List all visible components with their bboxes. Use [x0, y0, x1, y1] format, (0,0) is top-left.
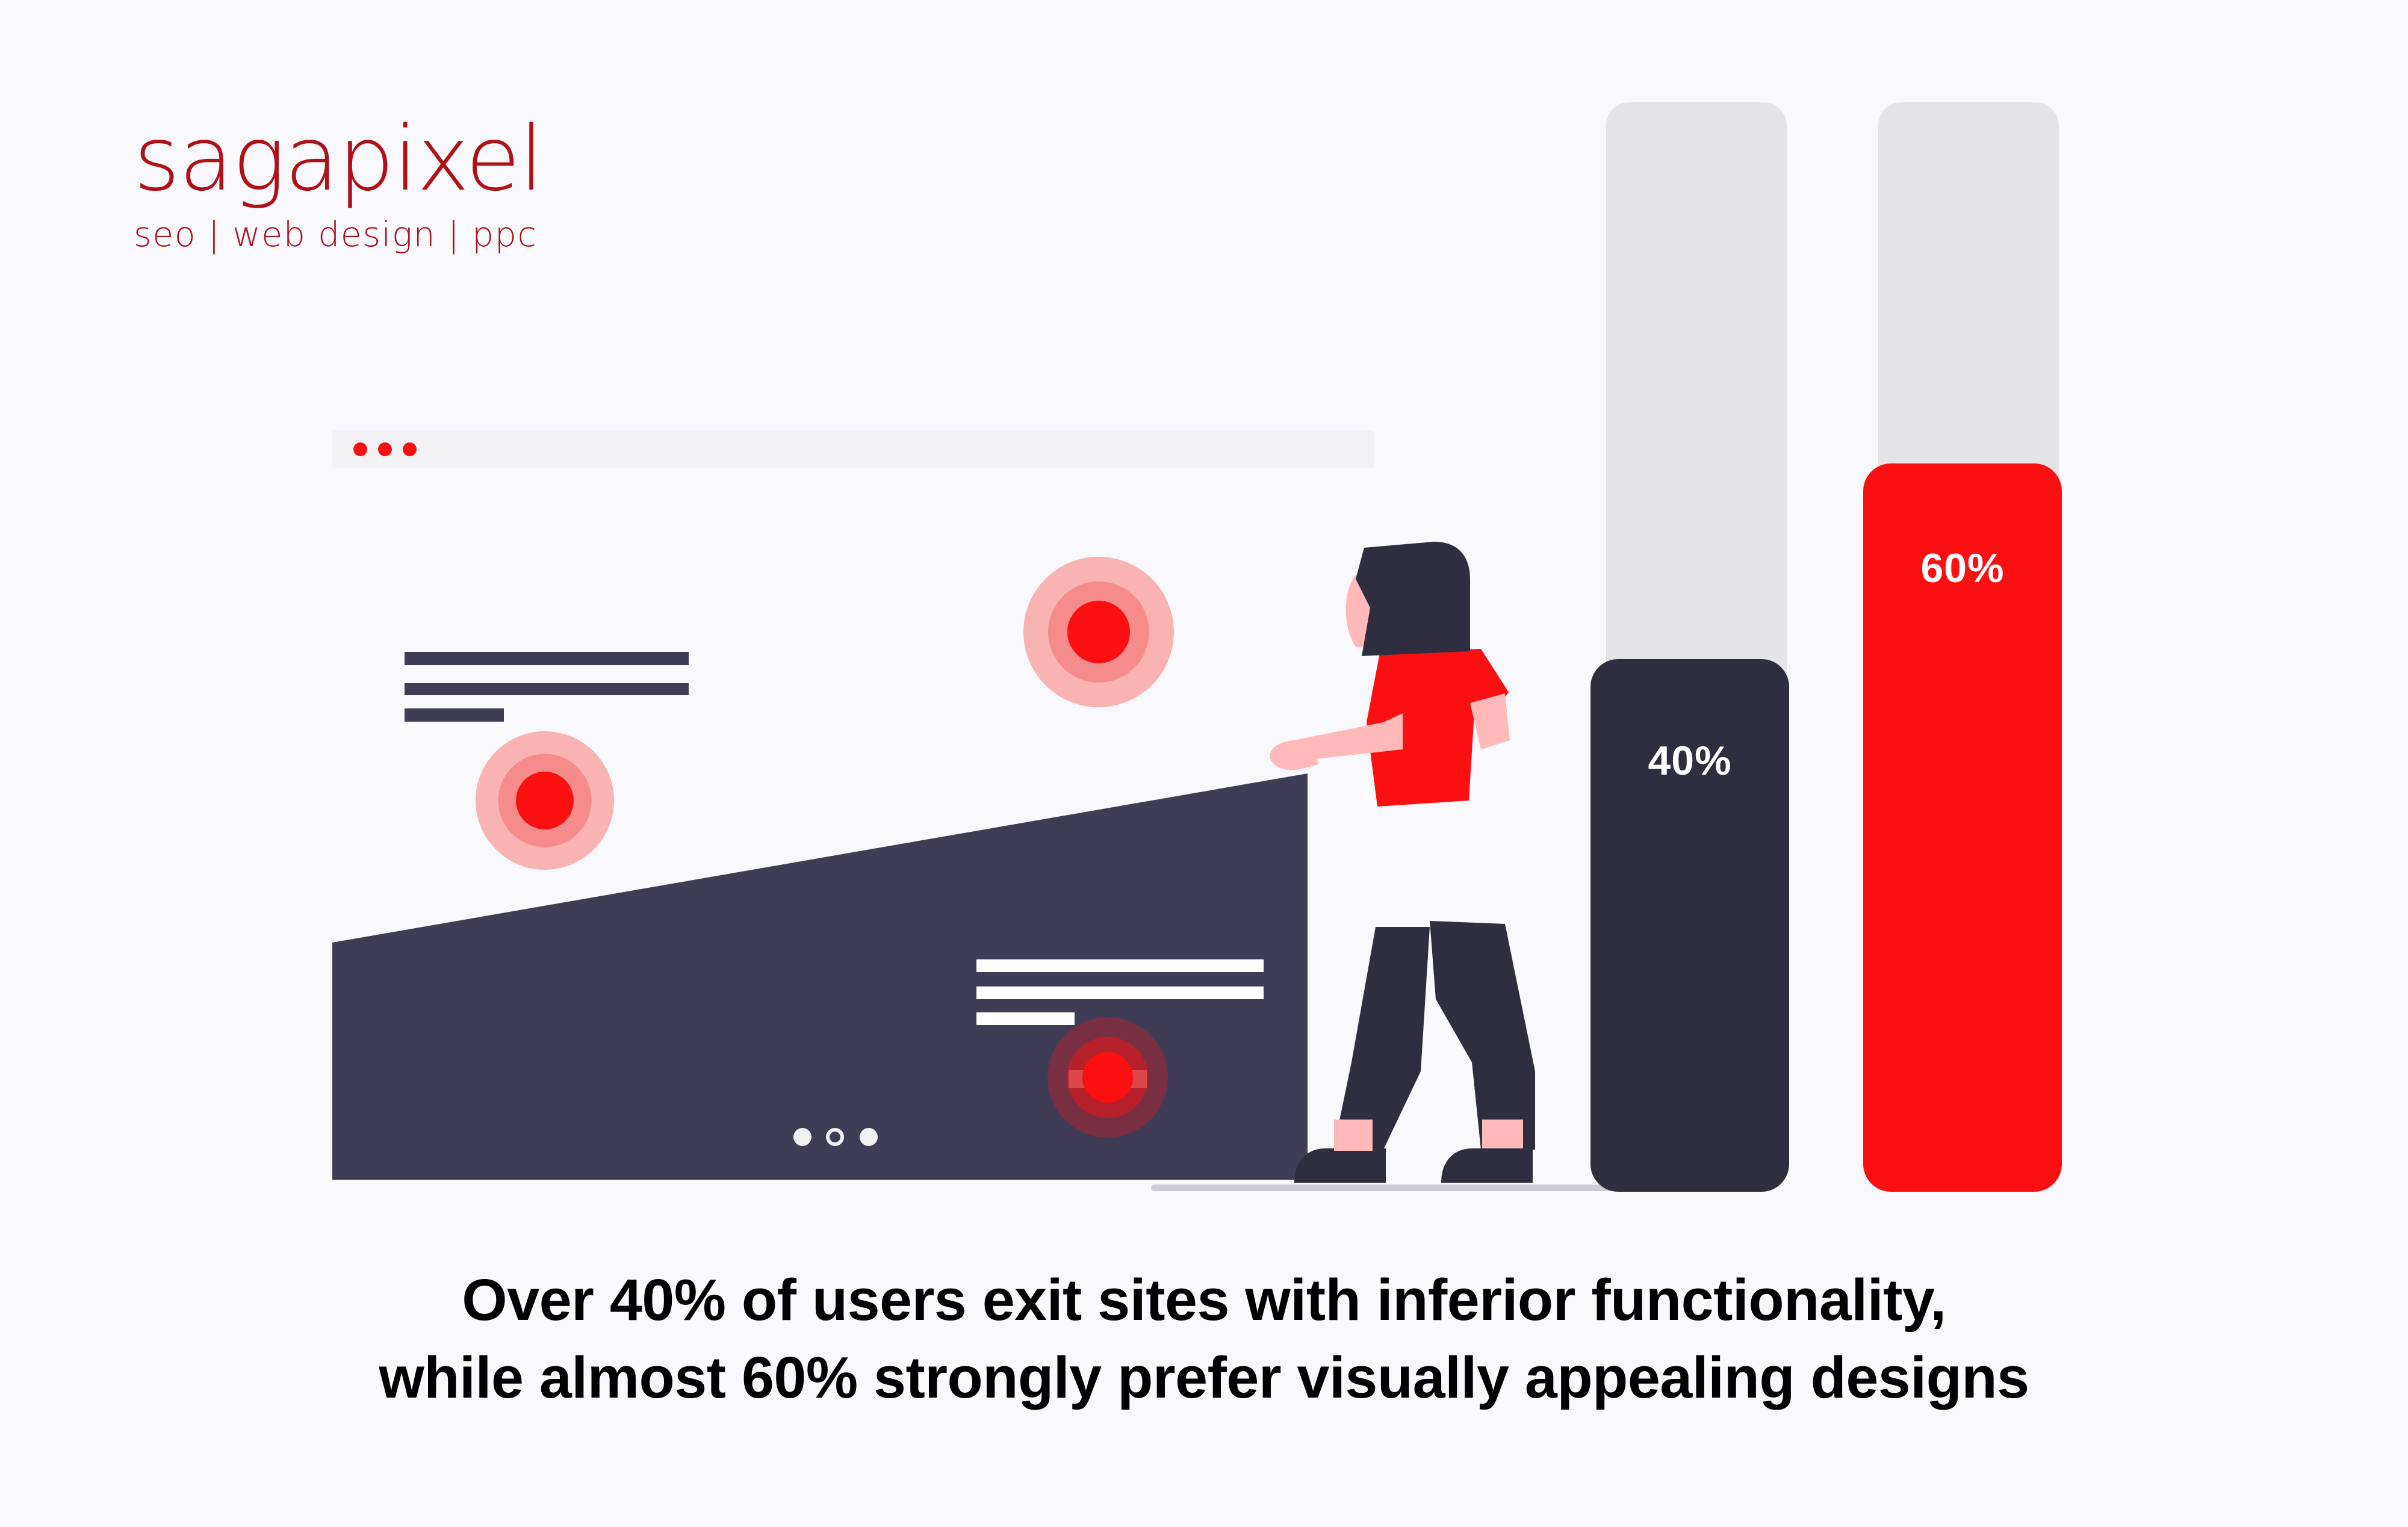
bar-chart: 40% 60% [1577, 102, 2077, 1204]
character-shoe-front [1441, 1148, 1533, 1183]
bar-value-label-40: 40% [1590, 737, 1789, 784]
placeholder-text-line [405, 708, 504, 722]
carousel-dot-3[interactable] [860, 1128, 878, 1146]
character-leg-front [1430, 921, 1535, 1150]
character-ankle-back [1334, 1120, 1373, 1151]
character-shoe-back [1294, 1148, 1386, 1183]
logo-wordmark: sagapixel [134, 114, 555, 203]
carousel-indicator[interactable] [793, 1128, 896, 1152]
character-ankle-front [1482, 1120, 1523, 1151]
browser-titlebar [332, 430, 1374, 468]
caption: Over 40% of users exit sites with inferi… [0, 1261, 2408, 1416]
character-illustration [1222, 542, 1607, 1198]
placeholder-text-line [405, 652, 689, 665]
infographic-canvas: sagapixel seo | web design | ppc [0, 0, 2408, 1527]
browser-mockup [332, 430, 1374, 466]
logo-tagline: seo | web design | ppc [134, 218, 555, 252]
browser-dot-close-icon[interactable] [353, 442, 367, 456]
placeholder-text-line [976, 959, 1264, 972]
click-pulse-icon-top [1023, 557, 1174, 707]
brand-logo: sagapixel seo | web design | ppc [134, 114, 555, 265]
carousel-dot-1[interactable] [793, 1128, 811, 1146]
character-hair [1356, 542, 1470, 656]
character-arm-far [1470, 693, 1510, 749]
placeholder-text-line [976, 987, 1264, 999]
carousel-dot-2[interactable] [826, 1128, 844, 1146]
caption-line-2: while almost 60% strongly prefer visuall… [0, 1339, 2408, 1416]
caption-line-1: Over 40% of users exit sites with inferi… [0, 1261, 2408, 1339]
character-hand [1270, 740, 1318, 770]
click-pulse-icon-bottom [1047, 1017, 1168, 1138]
character-leg-back [1333, 927, 1430, 1150]
browser-dot-maximize-icon[interactable] [403, 442, 417, 456]
click-pulse-icon-left [476, 731, 614, 870]
bar-value-label-60: 60% [1863, 545, 2062, 592]
pulse-core [1082, 1052, 1133, 1103]
pulse-core [516, 772, 574, 829]
pulse-core [1067, 601, 1130, 663]
browser-dot-minimize-icon[interactable] [378, 442, 392, 456]
placeholder-text-line [405, 683, 689, 695]
placeholder-text-line [976, 1012, 1075, 1025]
